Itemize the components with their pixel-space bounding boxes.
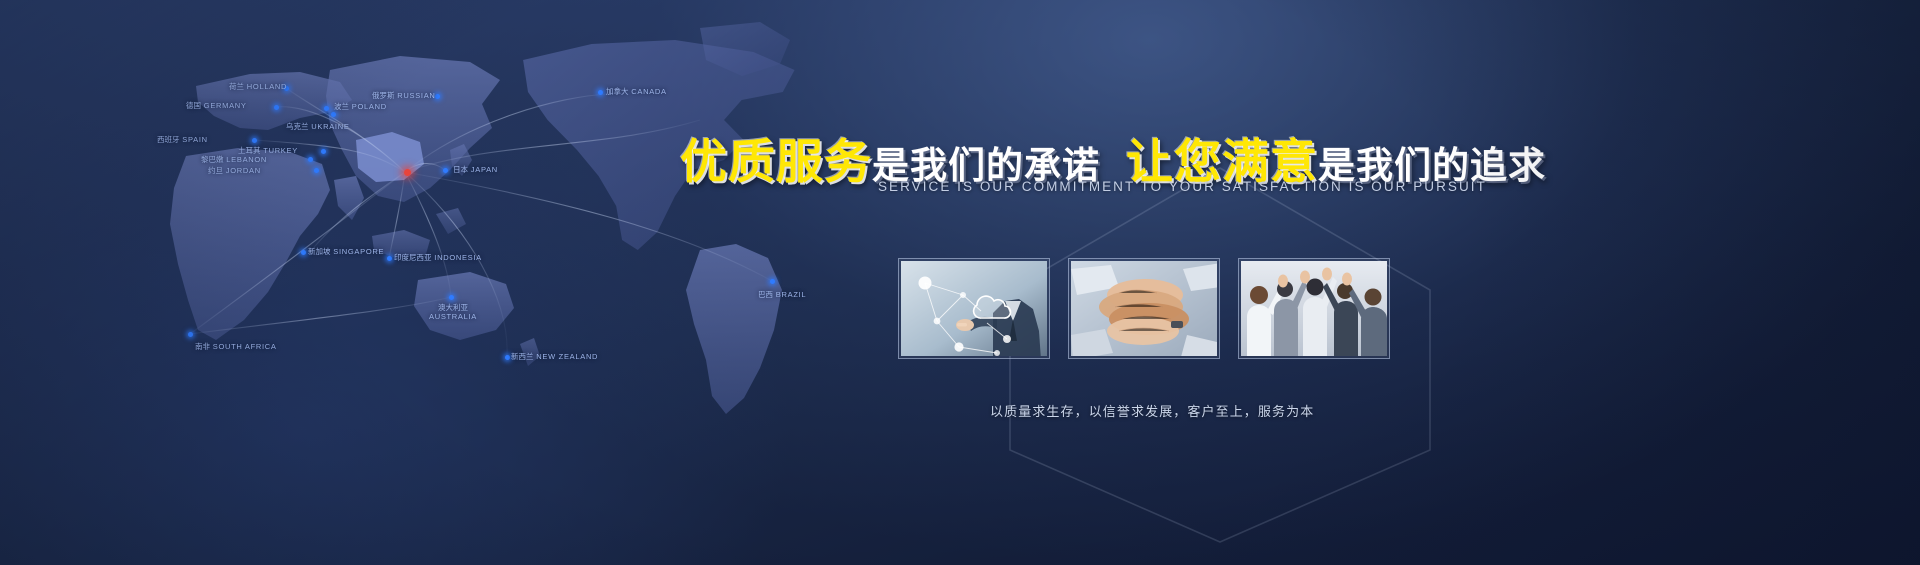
- map-label-lebanon: 黎巴嫩 LEBANON: [201, 155, 267, 164]
- map-label-new-zealand: 新西兰 NEW ZEALAND: [511, 352, 598, 361]
- landmass-africa: [170, 148, 330, 340]
- map-label-south-africa: 南非 SOUTH AFRICA: [195, 342, 277, 351]
- photo-team-high-five-graphic: [1241, 261, 1387, 356]
- map-label-spain: 西班牙 SPAIN: [157, 135, 208, 144]
- photo-stacked-hands-graphic: [1071, 261, 1217, 356]
- map-dot-poland: [324, 106, 329, 111]
- photo-team-high-five: [1238, 258, 1390, 359]
- map-label-singapore: 新加坡 SINGAPORE: [308, 247, 384, 256]
- banner-tagline: 以质量求生存，以信誉求发展，客户至上，服务为本: [990, 401, 1314, 420]
- map-dot-south-africa: [188, 332, 193, 337]
- banner-content: 优质服务是我们的承诺让您满意是我们的追求 SERVICE IS OUR COMM…: [660, 0, 1920, 565]
- banner-subtitle: SERVICE IS OUR COMMITMENT TO YOUR SATISF…: [878, 179, 1487, 194]
- map-label-poland: 波兰 POLAND: [334, 102, 387, 111]
- map-dot-jordan: [314, 168, 319, 173]
- map-dot-japan: [443, 168, 448, 173]
- map-dot-ukraine: [331, 112, 336, 117]
- map-label-ukraine: 乌克兰 UKRAINE: [286, 122, 350, 131]
- map-dot-germany: [274, 105, 279, 110]
- photo-cloud-network-touch-graphic: [901, 261, 1047, 356]
- map-dot-indonesia: [387, 256, 392, 261]
- landmass-philippines: [436, 208, 466, 234]
- photo-stacked-hands: [1068, 258, 1220, 359]
- map-dot-singapore: [301, 250, 306, 255]
- map-label-russian: 俄罗斯 RUSSIAN: [372, 91, 436, 100]
- map-label-jordan: 约旦 JORDAN: [208, 166, 261, 175]
- map-label-turkey: 土耳其 TURKEY: [238, 146, 298, 155]
- map-dot-new-zealand: [505, 355, 510, 360]
- map-label-japan: 日本 JAPAN: [453, 165, 498, 174]
- photo-cloud-network-touch: [898, 258, 1050, 359]
- map-dot-spain: [252, 138, 257, 143]
- hero-banner: 荷兰 HOLLAND 德国 GERMANY 波兰 POLAND 俄罗斯 RUSS…: [0, 0, 1920, 565]
- photo-strip: [898, 258, 1390, 359]
- headline-highlight-1: 优质服务: [680, 135, 872, 188]
- map-dot-canada: [598, 90, 603, 95]
- map-dot-lebanon: [308, 157, 313, 162]
- map-dot-turkey: [321, 149, 326, 154]
- map-label-canada: 加拿大 CANADA: [606, 87, 667, 96]
- map-label-australia: 澳大利亚AUSTRALIA: [429, 303, 477, 322]
- map-dot-australia: [449, 295, 454, 300]
- map-label-germany: 德国 GERMANY: [186, 101, 247, 110]
- map-dot-china: [404, 169, 411, 176]
- map-label-holland: 荷兰 HOLLAND: [229, 82, 287, 91]
- map-label-indonesia: 印度尼西亚 INDONESIA: [394, 253, 482, 262]
